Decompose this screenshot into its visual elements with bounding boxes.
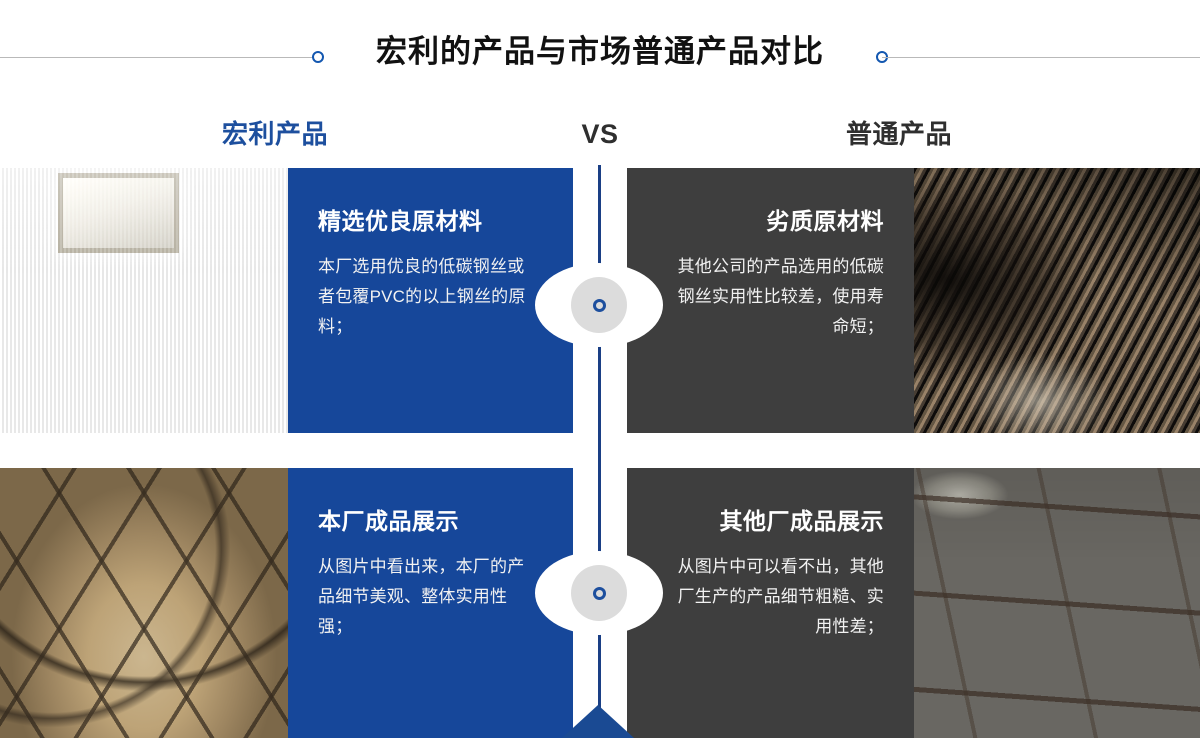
- panel-title: 精选优良原材料: [318, 206, 543, 236]
- image-gabion-stone-wall: [914, 468, 1200, 738]
- column-header-right: 普通产品: [846, 112, 952, 156]
- ring-icon: [593, 587, 606, 600]
- panel-ordinary-product: 其他厂成品展示 从图片中可以看不出，其他厂生产的产品细节粗糙、实用性差；: [627, 468, 914, 738]
- panel-body: 本厂选用优良的低碳钢丝或者包覆PVC的以上钢丝的原料；: [318, 252, 536, 342]
- panel-body: 从图片中可以看不出，其他厂生产的产品细节粗糙、实用性差；: [674, 552, 884, 642]
- title-rule-right: [882, 57, 1200, 58]
- panel-title: 本厂成品展示: [318, 506, 543, 536]
- photo-rusty-wire: [914, 168, 1200, 433]
- spine-node-icon-2: [571, 565, 627, 621]
- ring-icon: [593, 299, 606, 312]
- panel-hongli-material: 精选优良原材料 本厂选用优良的低碳钢丝或者包覆PVC的以上钢丝的原料；: [288, 168, 573, 433]
- panel-title: 其他厂成品展示: [655, 506, 884, 536]
- column-header-vs: VS: [0, 112, 1200, 156]
- panel-ordinary-material: 劣质原材料 其他公司的产品选用的低碳钢丝实用性比较差，使用寿命短；: [627, 168, 914, 433]
- panel-body: 从图片中看出来，本厂的产品细节美观、整体实用性强；: [318, 552, 536, 642]
- panel-title: 劣质原材料: [655, 206, 884, 236]
- title-band: 宏利的产品与市场普通产品对比: [0, 0, 1200, 100]
- comparison-infographic: 宏利的产品与市场普通产品对比 宏利产品 VS 普通产品 精选优良原材料 本厂选用…: [0, 0, 1200, 738]
- panel-hongli-product: 本厂成品展示 从图片中看出来，本厂的产品细节美观、整体实用性强；: [288, 468, 573, 738]
- photo-wire-coils: [0, 168, 288, 433]
- photo-gabion-boulder: [0, 468, 288, 738]
- page-title: 宏利的产品与市场普通产品对比: [0, 30, 1200, 74]
- column-headers: 宏利产品 VS 普通产品: [0, 112, 1200, 164]
- image-gabion-mesh-boulder: [0, 468, 288, 738]
- panel-body: 其他公司的产品选用的低碳钢丝实用性比较差，使用寿命短；: [674, 252, 884, 342]
- spine-node-icon-1: [571, 277, 627, 333]
- image-rusty-wire-coil: [914, 168, 1200, 433]
- warehouse-window-shape: [58, 173, 179, 253]
- photo-gabion-wall: [914, 468, 1200, 738]
- up-triangle-arrow-icon: [562, 705, 634, 738]
- image-galvanized-wire-coils: [0, 168, 288, 433]
